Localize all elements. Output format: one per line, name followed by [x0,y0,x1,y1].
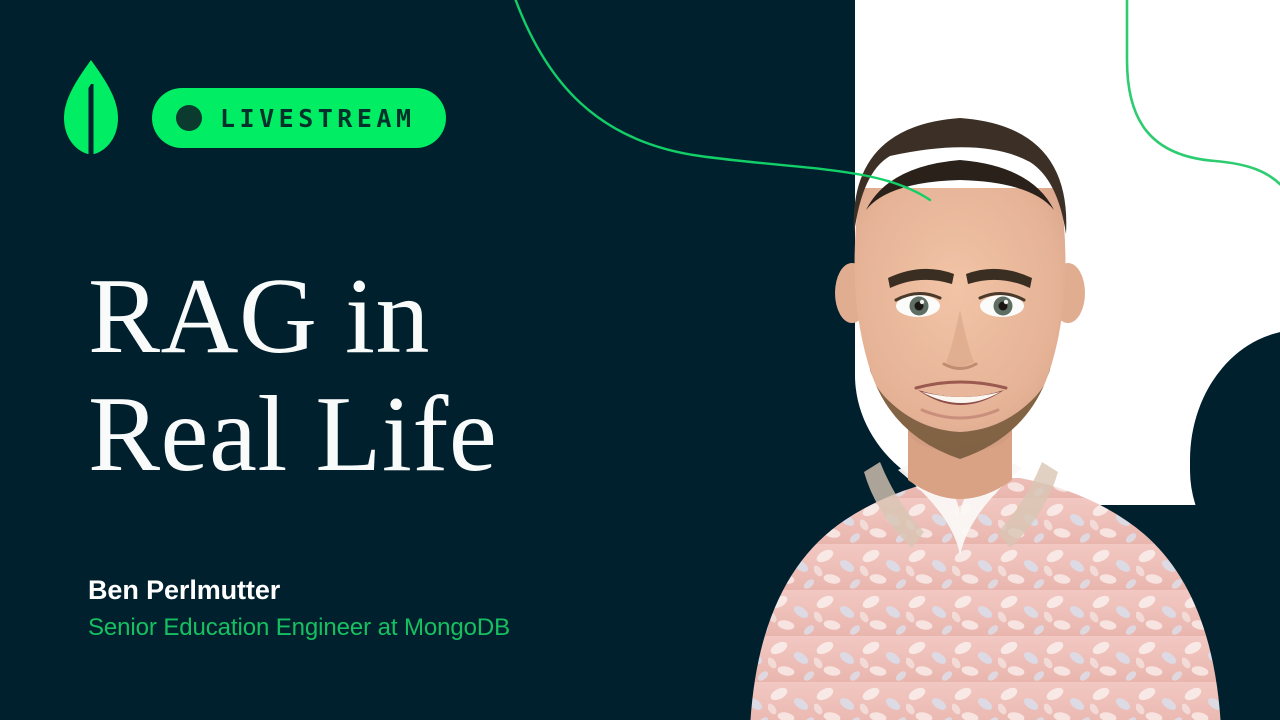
livestream-badge[interactable]: LIVESTREAM [152,88,446,148]
speaker-block: Ben Perlmutter Senior Education Engineer… [88,574,688,643]
livestream-title-slide: LIVESTREAM RAG in Real Life Ben Perlmutt… [0,0,1280,720]
mongodb-leaf-icon [62,58,120,162]
page-title: RAG in Real Life [88,258,648,493]
title-line-2: Real Life [88,376,648,494]
livestream-label: LIVESTREAM [220,106,416,131]
title-line-1: RAG in [88,258,648,376]
speaker-portrait [630,38,1280,720]
live-dot-icon [176,105,202,131]
speaker-role: Senior Education Engineer at MongoDB [88,612,688,643]
speaker-name: Ben Perlmutter [88,574,688,608]
